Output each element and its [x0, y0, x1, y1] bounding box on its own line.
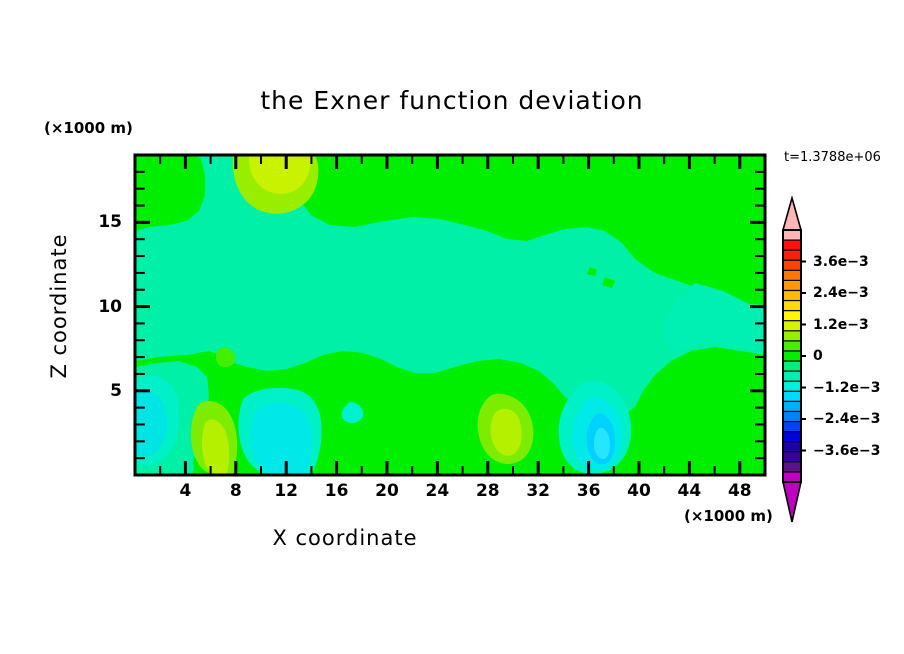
- colorbar-band: [783, 462, 801, 473]
- colorbar-tick-label: 2.4e−3: [813, 285, 869, 301]
- colorbar-band: [783, 260, 801, 271]
- y-axis-units-label: (×1000 m): [44, 119, 133, 137]
- colorbar-band: [783, 341, 801, 352]
- colorbar-band: [783, 432, 801, 443]
- colorbar-band: [783, 391, 801, 402]
- x-tick-label: 48: [728, 481, 752, 501]
- colorbar-band: [783, 280, 801, 291]
- colorbar-band: [783, 371, 801, 382]
- colorbar-tick-label: −3.6e−3: [813, 443, 881, 459]
- colorbar-band: [783, 472, 801, 483]
- colorbar-band: [783, 331, 801, 342]
- y-tick-label: 5: [90, 381, 122, 401]
- x-tick-label: 20: [375, 481, 399, 501]
- figure-canvas: the Exner function deviation (×1000 m) (…: [0, 0, 904, 654]
- colorbar-band: [783, 230, 801, 241]
- y-tick-marks: [135, 172, 765, 458]
- y-tick-label: 10: [90, 297, 122, 317]
- colorbar-band: [783, 321, 801, 332]
- colorbar-band: [783, 270, 801, 281]
- colorbar-band: [783, 250, 801, 261]
- colorbar-tick-label: 0: [813, 348, 823, 364]
- colorbar-band: [783, 381, 801, 392]
- x-tick-label: 40: [627, 481, 651, 501]
- x-tick-label: 8: [230, 481, 242, 501]
- x-tick-label: 36: [577, 481, 601, 501]
- colorbar-band: [783, 361, 801, 372]
- axes-border: [135, 155, 765, 475]
- colorbar-tick-label: −2.4e−3: [813, 411, 881, 427]
- x-tick-marks: [160, 155, 740, 475]
- colorbar-tick-label: 3.6e−3: [813, 254, 869, 270]
- colorbar-band: [783, 452, 801, 463]
- colorbar-band: [783, 311, 801, 322]
- x-tick-label: 28: [476, 481, 500, 501]
- colorbar-band: [783, 442, 801, 453]
- colorbar-tick-label: 1.2e−3: [813, 317, 869, 333]
- x-tick-label: 44: [678, 481, 702, 501]
- colorbar-tick-label: −1.2e−3: [813, 380, 881, 396]
- colorbar-band: [783, 301, 801, 312]
- page-title: the Exner function deviation: [0, 86, 904, 115]
- colorbar-band: [783, 401, 801, 412]
- x-tick-label: 4: [179, 481, 191, 501]
- colorbar-bands: [783, 230, 801, 483]
- colorbar-band: [783, 240, 801, 251]
- x-tick-label: 16: [325, 481, 349, 501]
- colorbar-band: [783, 290, 801, 301]
- x-tick-label: 32: [526, 481, 550, 501]
- y-axis-title: Z coordinate: [47, 206, 71, 406]
- colorbar-band: [783, 411, 801, 422]
- colorbar-over-arrow: [783, 198, 801, 230]
- x-tick-label: 24: [426, 481, 450, 501]
- y-tick-label: 15: [90, 212, 122, 232]
- colorbar-band: [783, 351, 801, 362]
- colorbar-under-arrow: [783, 482, 801, 522]
- colorbar-band: [783, 422, 801, 433]
- x-tick-label: 12: [274, 481, 298, 501]
